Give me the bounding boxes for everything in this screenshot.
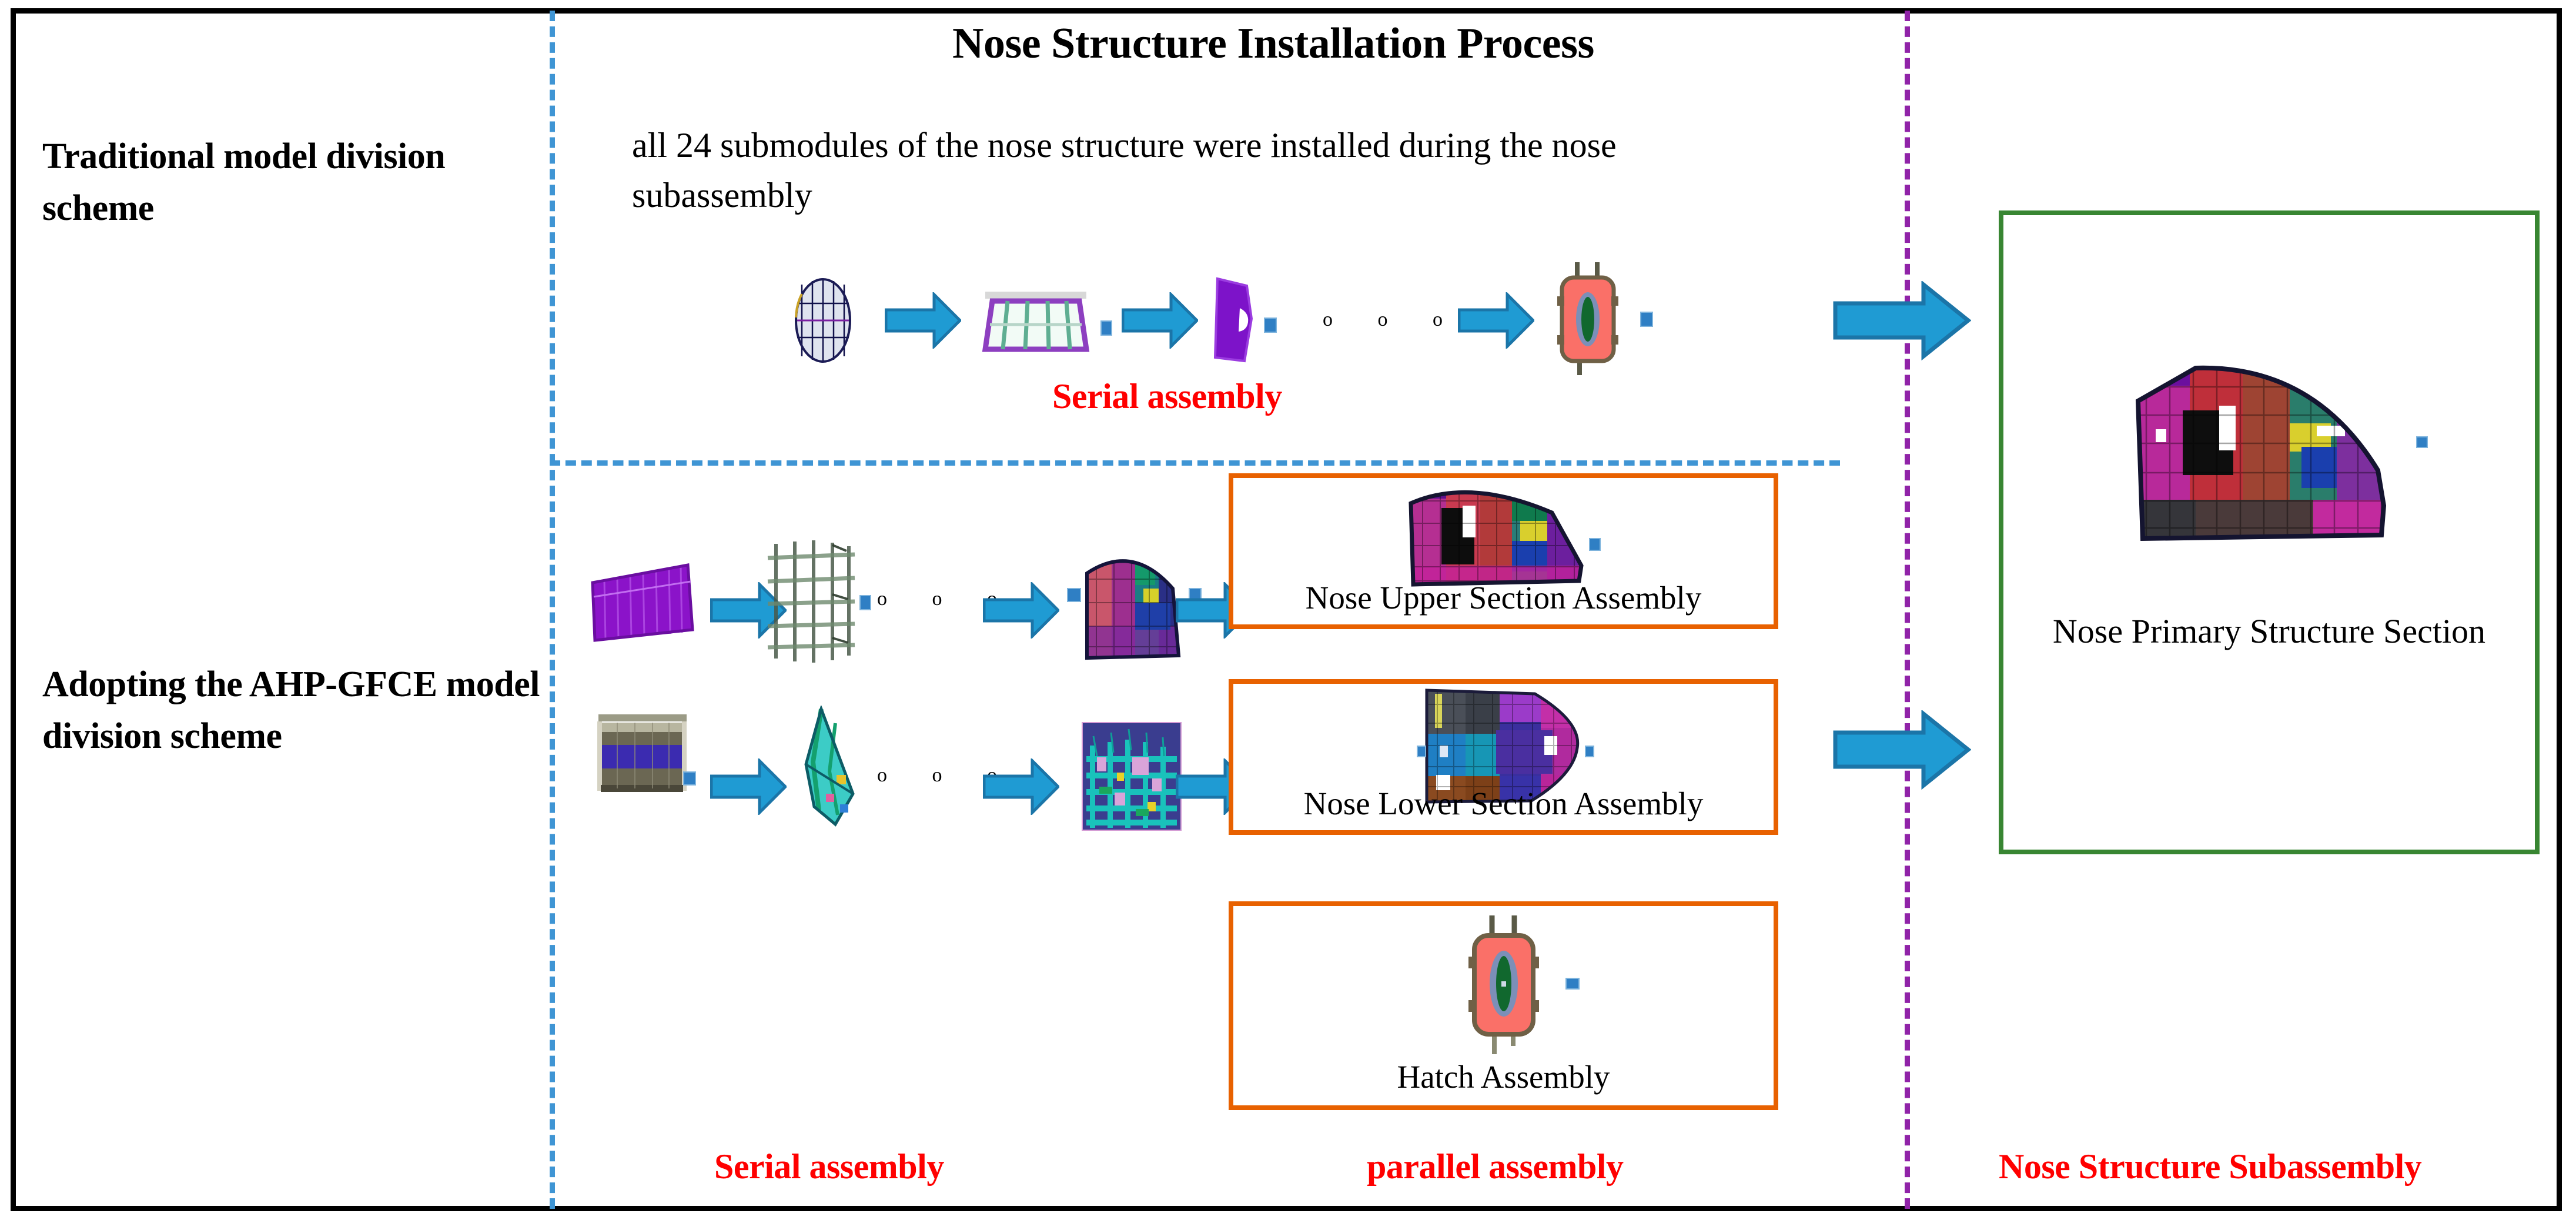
page-title: Nose Structure Installation Process — [952, 19, 1594, 69]
part-marker-icon — [2416, 436, 2428, 448]
part-hatch-icon — [1543, 260, 1631, 377]
row-label-ahp: Adopting the AHP-GFCE model division sch… — [42, 659, 560, 762]
right-arrow-icon — [983, 582, 1059, 639]
right-arrow-icon — [710, 758, 787, 815]
part-marker-icon — [1067, 588, 1081, 602]
traditional-description: all 24 submodules of the nose structure … — [632, 121, 1772, 220]
part-frame-panel-icon — [977, 288, 1095, 359]
serial-assembly-label-traditional: Serial assembly — [1052, 376, 1282, 417]
footer-label-parallel: parallel assembly — [1367, 1147, 1624, 1187]
part-marker-icon — [1417, 746, 1426, 757]
part-marker-icon — [1640, 312, 1653, 327]
parallel-box-caption-hatch: Hatch Assembly — [1229, 1058, 1778, 1095]
divider-horizontal-blue — [550, 460, 1840, 466]
part-circular-frame-icon — [788, 276, 858, 365]
part-purple-skin-icon — [588, 561, 697, 644]
thumb-nose-primary-structure-icon — [2125, 359, 2401, 553]
right-arrow-icon — [983, 758, 1059, 815]
parallel-box-caption-nose-upper: Nose Upper Section Assembly — [1229, 579, 1778, 616]
divider-vertical-purple — [1905, 11, 1910, 1209]
part-marker-icon — [1565, 978, 1580, 990]
right-arrow-icon — [1458, 292, 1534, 349]
ellipsis-serial-traditional: o o o — [1323, 309, 1463, 331]
divider-vertical-blue-left — [550, 11, 555, 1209]
part-nose-upper-wedge-icon — [1079, 538, 1190, 664]
parallel-box-caption-nose-lower: Nose Lower Section Assembly — [1229, 785, 1778, 822]
part-purple-bracket-icon — [1208, 275, 1262, 365]
part-curved-beam-icon — [785, 706, 879, 832]
part-marker-icon — [1100, 320, 1112, 336]
thumb-hatch-assembly-icon — [1452, 913, 1555, 1057]
footer-label-subassembly: Nose Structure Subassembly — [1999, 1147, 2421, 1187]
diagram-canvas: Nose Structure Installation Process Trad… — [0, 0, 2576, 1230]
result-box-caption: Nose Primary Structure Section — [1999, 611, 2540, 651]
row-label-traditional: Traditional model division scheme — [42, 131, 536, 234]
thumb-nose-upper-section-icon — [1405, 477, 1599, 595]
footer-label-serial: Serial assembly — [714, 1147, 944, 1187]
part-marker-icon — [1589, 538, 1601, 551]
big-right-arrow-icon[interactable] — [1833, 281, 1971, 360]
part-marker-icon — [859, 595, 871, 610]
right-arrow-icon — [1122, 292, 1198, 349]
part-grid-lattice-icon — [764, 538, 858, 664]
part-dense-lattice-icon — [1082, 722, 1182, 831]
right-arrow-icon — [885, 292, 961, 349]
big-right-arrow-icon[interactable] — [1833, 710, 1971, 790]
part-marker-icon — [683, 771, 696, 786]
part-marker-icon — [1264, 317, 1277, 333]
part-marker-icon — [1585, 746, 1594, 757]
part-lower-panel-icon — [594, 714, 691, 797]
